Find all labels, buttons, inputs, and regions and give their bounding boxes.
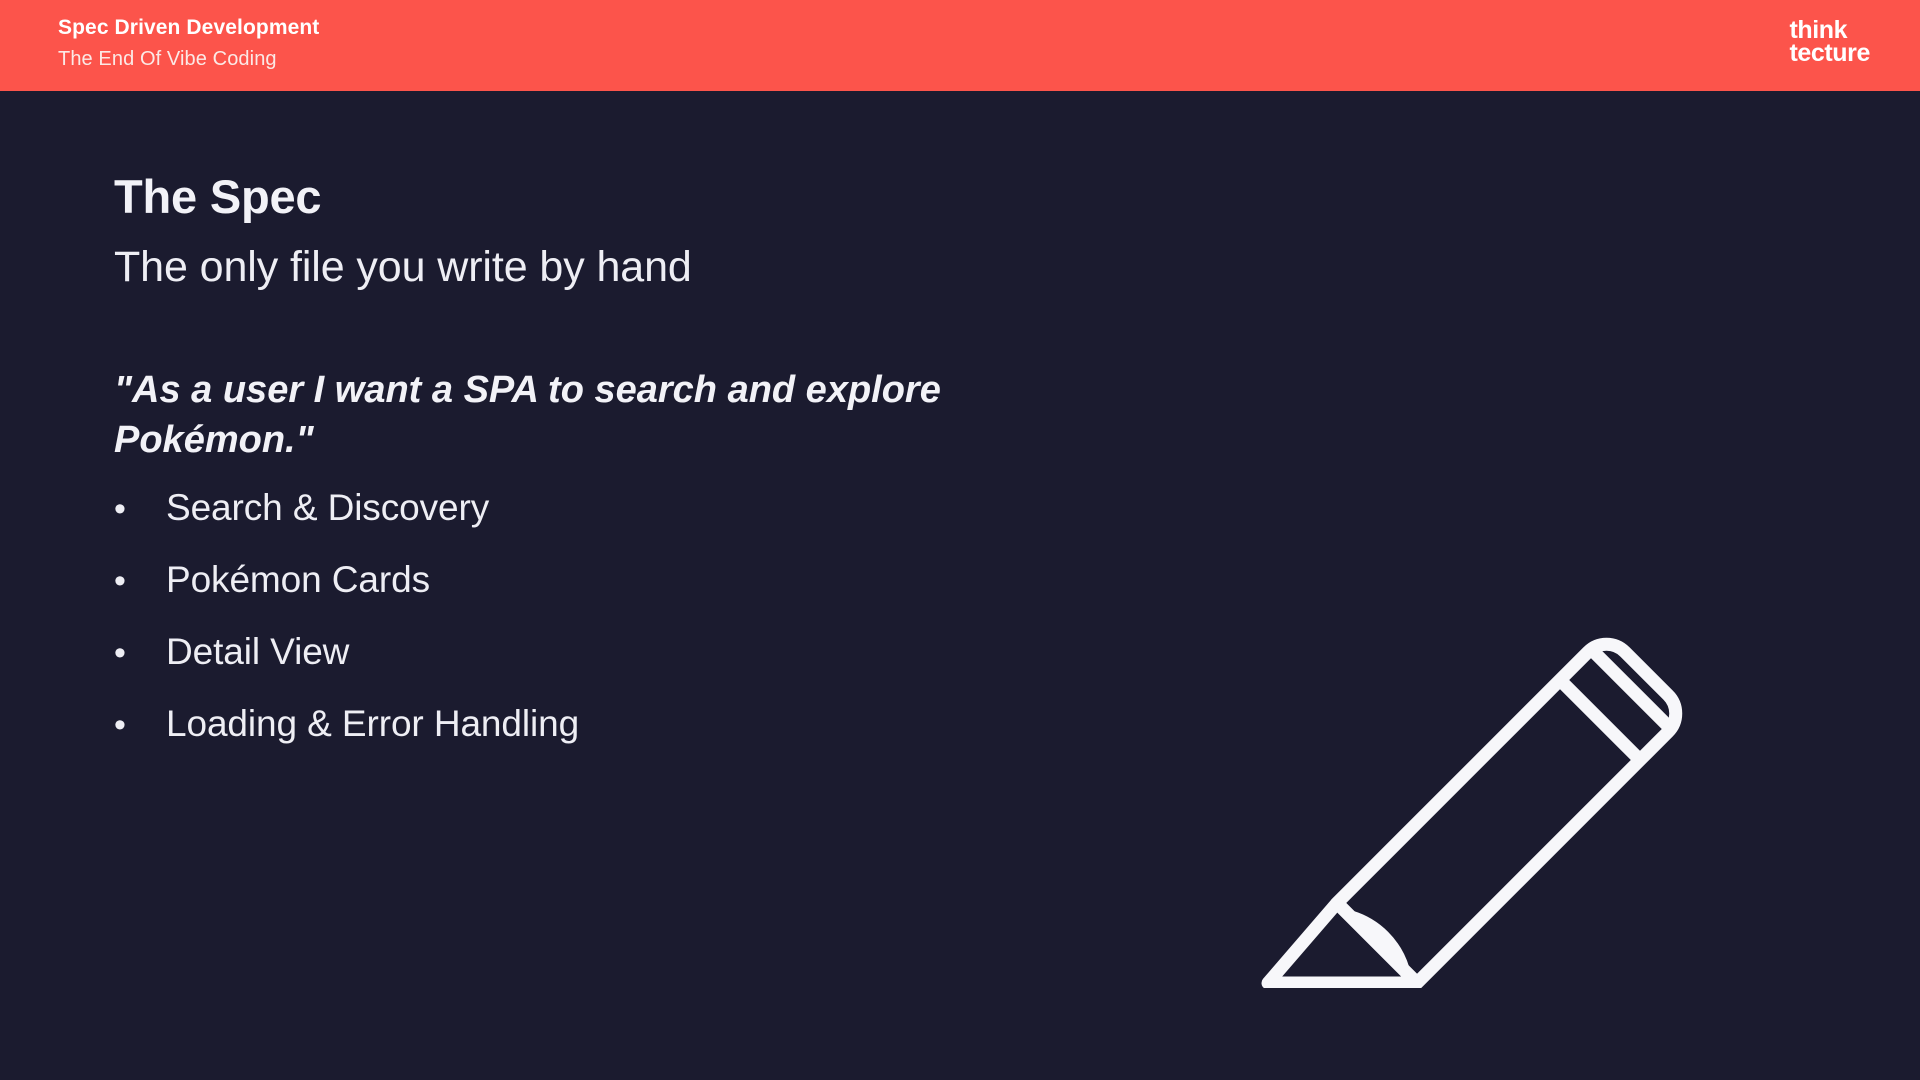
list-item-label: Loading & Error Handling (166, 705, 579, 742)
slide-header: Spec Driven Development The End Of Vibe … (0, 0, 1920, 91)
header-subtitle: The End Of Vibe Coding (58, 49, 319, 69)
list-item: • Search & Discovery (114, 489, 1214, 561)
list-item: • Detail View (114, 633, 1214, 705)
header-title: Spec Driven Development (58, 17, 319, 38)
list-item-label: Pokémon Cards (166, 561, 430, 598)
logo-line-tecture: tecture (1789, 42, 1870, 65)
pencil-illustration (1258, 528, 1728, 988)
pencil-icon (1258, 528, 1728, 988)
list-item: • Pokémon Cards (114, 561, 1214, 633)
bullet-dot-icon: • (114, 708, 166, 742)
list-item: • Loading & Error Handling (114, 705, 1214, 777)
bullet-dot-icon: • (114, 492, 166, 526)
page-title: The Spec (114, 171, 1214, 223)
list-item-label: Search & Discovery (166, 489, 489, 526)
page-subtitle: The only file you write by hand (114, 243, 1214, 292)
slide: Spec Driven Development The End Of Vibe … (0, 0, 1920, 1080)
slide-content: The Spec The only file you write by hand… (114, 91, 1214, 777)
user-story-quote: "As a user I want a SPA to search and ex… (114, 365, 1014, 465)
thinktecture-logo: think tecture (1789, 19, 1870, 65)
feature-bullet-list: • Search & Discovery • Pokémon Cards • D… (114, 489, 1214, 777)
bullet-dot-icon: • (114, 636, 166, 670)
list-item-label: Detail View (166, 633, 349, 670)
bullet-dot-icon: • (114, 564, 166, 598)
header-text-block: Spec Driven Development The End Of Vibe … (58, 17, 319, 69)
